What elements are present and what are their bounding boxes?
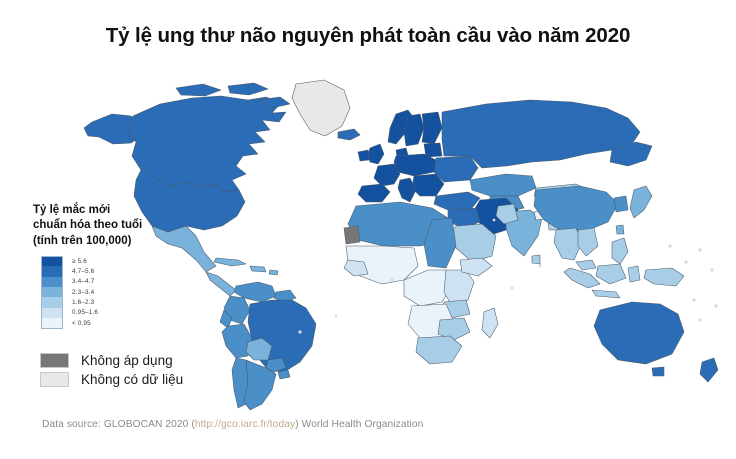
region-sri-lanka[interactable] bbox=[532, 255, 540, 264]
legend-bin-row[interactable]: 4.7–5.6 bbox=[41, 266, 193, 276]
legend-color-ramp: ≥ 5.6 4.7–5.6 3.4–4.7 2.3–3.4 1.6–2.3 0.… bbox=[41, 256, 193, 329]
island-dot bbox=[510, 286, 513, 289]
page-title: Tỷ lệ ung thư não nguyên phát toàn cầu v… bbox=[0, 24, 736, 49]
island-dot bbox=[684, 260, 688, 264]
region-tasmania[interactable] bbox=[652, 367, 664, 376]
region-cuba[interactable] bbox=[214, 258, 246, 266]
legend-swatch bbox=[41, 308, 63, 318]
region-borneo[interactable] bbox=[596, 264, 626, 284]
region-spain-portugal[interactable] bbox=[358, 184, 390, 202]
legend-swatch bbox=[41, 256, 63, 266]
region-indonesia-java[interactable] bbox=[592, 290, 620, 298]
region-germany-poland[interactable] bbox=[394, 154, 436, 176]
region-hispaniola[interactable] bbox=[250, 266, 266, 272]
legend: Tỷ lệ mắc mới chuẩn hóa theo tuổi (tính … bbox=[33, 203, 193, 329]
region-turkey[interactable] bbox=[434, 192, 480, 210]
region-taiwan[interactable] bbox=[616, 225, 624, 234]
legend-swatch bbox=[41, 318, 63, 328]
region-china[interactable] bbox=[534, 186, 618, 232]
region-west-africa-coast[interactable] bbox=[344, 260, 368, 276]
world-map-figure: Tỷ lệ ung thư não nguyên phát toàn cầu v… bbox=[0, 0, 736, 459]
region-western-sahara[interactable] bbox=[344, 226, 360, 244]
island-dot bbox=[698, 248, 702, 252]
island-dot bbox=[390, 278, 393, 281]
legend-swatch-no-data bbox=[40, 372, 69, 387]
region-new-zealand[interactable] bbox=[700, 358, 718, 382]
island-dot bbox=[493, 219, 496, 222]
region-finland[interactable] bbox=[422, 112, 442, 144]
region-korea[interactable] bbox=[614, 196, 628, 212]
region-indochina[interactable] bbox=[578, 228, 598, 256]
data-source-footer: Data source: GLOBOCAN 2020 (http://gco.i… bbox=[42, 419, 423, 430]
legend-bin-row[interactable]: 0.95–1.6 bbox=[41, 308, 193, 318]
legend-bin-row[interactable]: ≥ 5.6 bbox=[41, 256, 193, 266]
region-canada-arctic-2[interactable] bbox=[228, 83, 268, 95]
legend-title: Tỷ lệ mắc mới chuẩn hóa theo tuổi (tính … bbox=[33, 203, 193, 249]
legend-swatch bbox=[41, 277, 63, 287]
region-baltics[interactable] bbox=[424, 143, 442, 157]
region-greenland[interactable] bbox=[292, 80, 350, 136]
island-dot bbox=[714, 304, 718, 308]
region-iceland[interactable] bbox=[338, 129, 360, 140]
island-dot bbox=[410, 304, 413, 307]
island-dot bbox=[298, 330, 301, 333]
island-dot bbox=[668, 244, 672, 248]
legend-swatch bbox=[41, 287, 63, 297]
legend-bin-label: 2.3–3.4 bbox=[72, 289, 94, 296]
region-papua-new-guinea[interactable] bbox=[644, 268, 684, 286]
footer-source-url[interactable]: http://gco.iarc.fr/today bbox=[195, 419, 295, 430]
island-dot bbox=[538, 264, 541, 267]
region-ireland[interactable] bbox=[358, 150, 369, 161]
legend-not-applicable-label: Không áp dụng bbox=[81, 353, 173, 368]
legend-bin-label: 3.4–4.7 bbox=[72, 278, 94, 285]
region-russia[interactable] bbox=[442, 100, 640, 168]
legend-bin-row[interactable]: < 0.95 bbox=[41, 318, 193, 328]
region-puerto-rico[interactable] bbox=[269, 270, 278, 275]
legend-swatch bbox=[41, 266, 63, 276]
legend-bin-row[interactable]: 1.6–2.3 bbox=[41, 297, 193, 307]
footer-prefix: Data source: GLOBOCAN 2020 ( bbox=[42, 419, 195, 430]
region-kazakhstan[interactable] bbox=[470, 174, 536, 196]
legend-no-data-label: Không có dữ liệu bbox=[81, 372, 183, 387]
island-dot bbox=[698, 318, 701, 321]
legend-not-applicable-row[interactable]: Không áp dụng bbox=[40, 351, 250, 370]
region-japan[interactable] bbox=[630, 186, 652, 218]
legend-bin-label: ≥ 5.6 bbox=[72, 258, 87, 265]
legend-bin-label: 0.95–1.6 bbox=[72, 309, 98, 316]
legend-swatch-not-applicable bbox=[40, 353, 69, 368]
legend-swatch bbox=[41, 297, 63, 307]
region-indonesia-sumatra[interactable] bbox=[564, 268, 600, 288]
region-philippines[interactable] bbox=[612, 238, 628, 264]
footer-suffix: ) World Health Organization bbox=[295, 419, 423, 430]
region-australia[interactable] bbox=[594, 302, 684, 364]
island-dot bbox=[335, 315, 338, 318]
region-malaysia[interactable] bbox=[576, 260, 596, 270]
island-dot bbox=[710, 268, 714, 272]
region-central-america[interactable] bbox=[206, 272, 236, 296]
region-united-kingdom[interactable] bbox=[368, 144, 384, 164]
region-canada-arctic-1[interactable] bbox=[176, 84, 221, 96]
island-dot bbox=[692, 298, 696, 302]
region-ukraine-belarus[interactable] bbox=[434, 156, 478, 182]
legend-bin-label: 1.6–2.3 bbox=[72, 299, 94, 306]
legend-bin-label: 4.7–5.6 bbox=[72, 268, 94, 275]
region-madagascar[interactable] bbox=[482, 308, 498, 338]
legend-no-data-row[interactable]: Không có dữ liệu bbox=[40, 370, 250, 389]
legend-special-categories: Không áp dụng Không có dữ liệu bbox=[40, 351, 250, 389]
legend-bin-row[interactable]: 3.4–4.7 bbox=[41, 277, 193, 287]
region-south-africa[interactable] bbox=[416, 336, 462, 364]
legend-bin-label: < 0.95 bbox=[72, 320, 91, 327]
legend-bin-row[interactable]: 2.3–3.4 bbox=[41, 287, 193, 297]
region-sulawesi[interactable] bbox=[628, 266, 640, 282]
